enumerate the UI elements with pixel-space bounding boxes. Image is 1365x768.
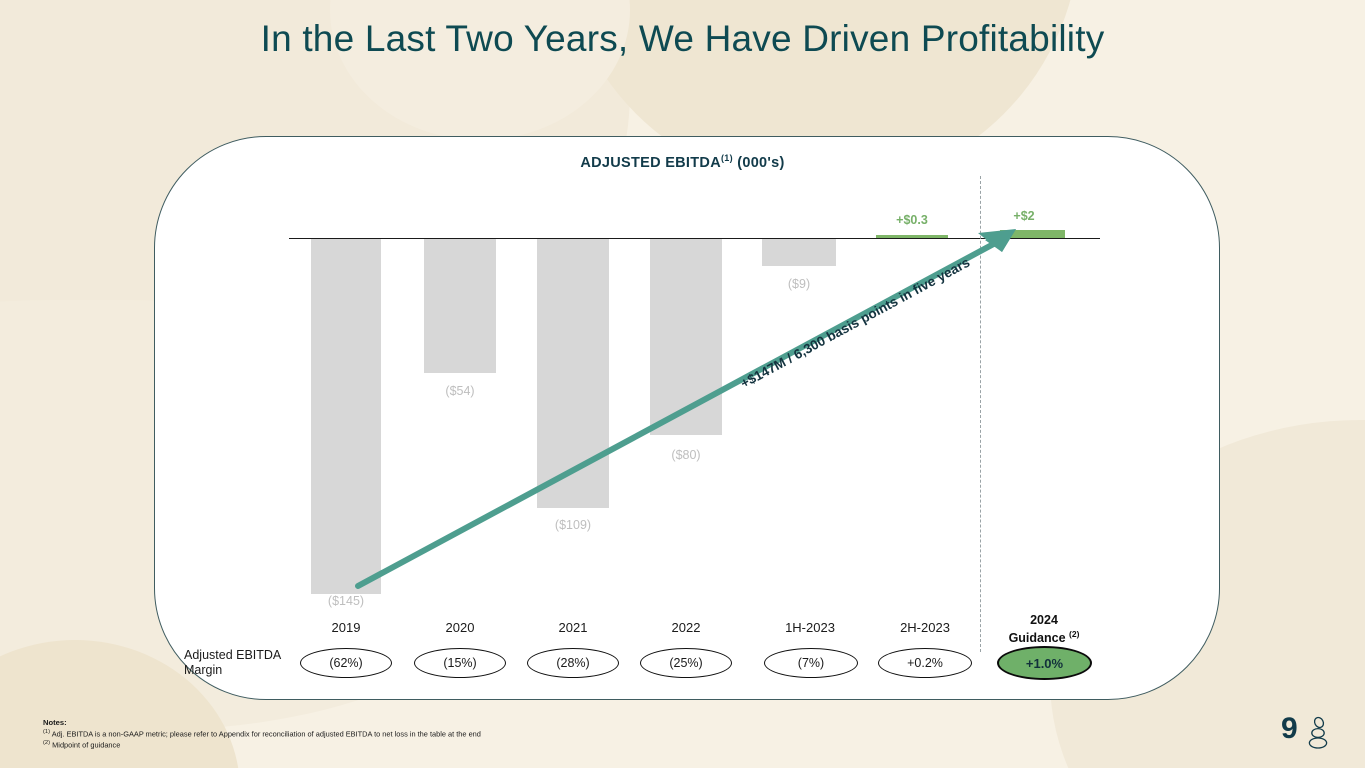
margin-pill-2024-guidance: +1.0% [997, 646, 1092, 680]
x-axis-label-2022: 2022 [626, 620, 746, 635]
margin-pill-2021: (28%) [527, 648, 619, 678]
footnote-2: (2) Midpoint of guidance [43, 739, 481, 750]
page-number: 9 [1281, 712, 1298, 746]
x-axis-label-1h-2023: 1H-2023 [750, 620, 870, 635]
margin-pill-1h-2023: (7%) [764, 648, 858, 678]
margin-pill-2022: (25%) [640, 648, 732, 678]
margin-pill-2019: (62%) [300, 648, 392, 678]
footnote-1-text: Adj. EBITDA is a non-GAAP metric; please… [50, 729, 481, 738]
x-axis-label-2021: 2021 [513, 620, 633, 635]
footnotes-heading: Notes: [43, 718, 481, 728]
guidance-word: Guidance [1009, 631, 1066, 645]
margin-row-label-line1: Adjusted EBITDA [184, 648, 281, 662]
footnote-2-text: Midpoint of guidance [50, 740, 120, 749]
chart-title-units: (000's) [733, 155, 785, 171]
margin-row-label: Adjusted EBITDA Margin [184, 648, 314, 678]
x-axis-label-2020: 2020 [400, 620, 520, 635]
guidance-footnote-marker: (2) [1069, 629, 1079, 639]
chart-title-text: ADJUSTED EBITDA [580, 155, 721, 171]
margin-row-label-line2: Margin [184, 663, 222, 677]
page-title: In the Last Two Years, We Have Driven Pr… [0, 18, 1365, 60]
chart-title-footnote-marker: (1) [721, 153, 733, 163]
footnote-1: (1) Adj. EBITDA is a non-GAAP metric; pl… [43, 728, 481, 739]
margin-pill-2020: (15%) [414, 648, 506, 678]
chart-title: ADJUSTED EBITDA(1) (000's) [0, 153, 1365, 171]
margin-pill-2h-2023: +0.2% [878, 648, 972, 678]
x-axis-label-2024-guidance: 2024 Guidance (2) [979, 613, 1109, 645]
x-axis-label-2h-2023: 2H-2023 [865, 620, 985, 635]
stacked-stones-logo-icon [1306, 716, 1332, 750]
x-axis-label-2019: 2019 [286, 620, 406, 635]
guidance-year: 2024 [1030, 613, 1058, 627]
footnotes: Notes: (1) Adj. EBITDA is a non-GAAP met… [43, 718, 481, 750]
